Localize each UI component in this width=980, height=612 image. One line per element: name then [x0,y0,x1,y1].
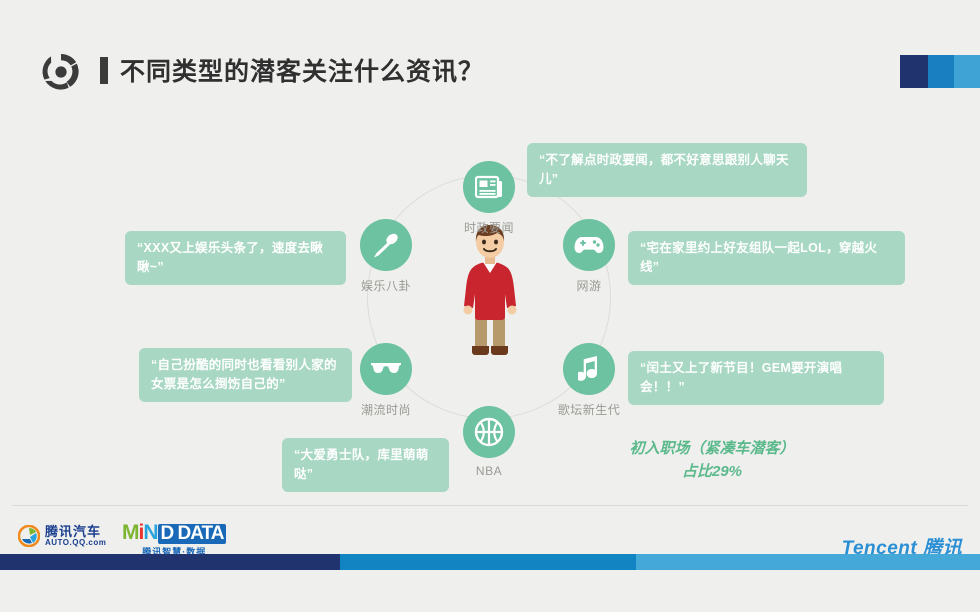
node-game[interactable]: 网游 [539,219,639,294]
minddata-logo: MiND DATA 腾讯智慧·数据 [122,522,226,558]
quote-bubble-game: “宅在家里约上好友组队一起LOL，穿越火线” [628,231,905,285]
music-note-icon [563,343,615,395]
quote-bubble-music: “闰土又上了新节目！GEM要开演唱会！！” [628,351,884,405]
gamepad-icon [563,219,615,271]
node-label: 歌坛新生代 [539,401,639,418]
basketball-icon [463,406,515,458]
tencent-auto-logo-icon [18,525,40,547]
node-label: 潮流时尚 [336,401,436,418]
sunglasses-icon [360,343,412,395]
footer-bar-segment-1 [0,554,340,570]
deco-block-3 [954,55,980,88]
minddata-n: N [143,522,157,543]
auto-logo-en: AUTO.QQ.com [45,539,106,547]
deco-block-1 [900,55,928,88]
minddata-wordmark: MiND DATA [122,522,226,544]
slide-canvas: 不同类型的潜客关注什么资讯？ [0,0,980,612]
page-title: 不同类型的潜客关注什么资讯？ [120,52,484,88]
node-label: 时政要闻 [439,219,539,236]
caption-line-1: 初入职场（紧凑车潜客） [612,438,812,461]
node-label: NBA [439,464,539,478]
newspaper-icon [463,161,515,213]
deco-block-2 [928,55,954,88]
auto-logo-cn: 腾讯汽车 [45,525,106,539]
quote-bubble-gossip: “XXX又上娱乐头条了，速度去瞅瞅~” [125,231,346,285]
node-label: 娱乐八卦 [336,277,436,294]
node-music[interactable]: 歌坛新生代 [539,343,639,418]
quote-bubble-news: “不了解点时政要闻，都不好意思跟别人聊天儿” [527,143,807,197]
caption-line-2: 占比29% [612,461,812,484]
young-man-illustration [455,222,525,362]
node-news[interactable]: 时政要闻 [439,161,539,236]
node-nba[interactable]: NBA [439,406,539,478]
aperture-logo-icon [40,51,82,93]
node-gossip[interactable]: 娱乐八卦 [336,219,436,294]
tencent-auto-logo: 腾讯汽车 AUTO.QQ.com [18,525,106,547]
title-accent-bar [100,57,108,84]
segment-caption: 初入职场（紧凑车潜客） 占比29% [612,438,812,483]
footer-bar-segment-3 [636,554,980,570]
quote-bubble-fashion: “自己扮酷的同时也看看别人家的女票是怎么捯饬自己的” [139,348,352,402]
node-label: 网游 [539,277,639,294]
footer-bar-segment-2 [340,554,636,570]
microphone-icon [360,219,412,271]
header-decoration [900,55,980,88]
footer-divider [12,505,968,506]
quote-bubble-nba: “大爱勇士队，库里萌萌哒” [282,438,449,492]
minddata-m: M [122,522,139,543]
footer-color-bar [0,554,980,570]
minddata-ddata: D DATA [158,524,227,544]
